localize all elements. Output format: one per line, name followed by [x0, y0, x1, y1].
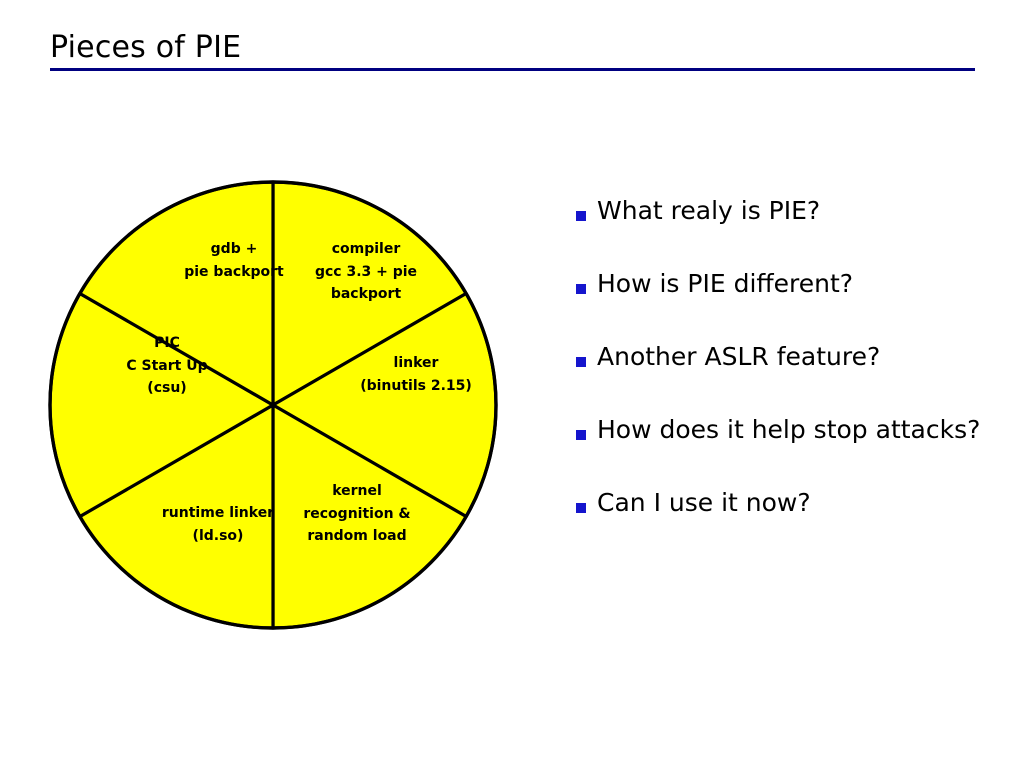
page-title: Pieces of PIE: [50, 30, 241, 65]
square-bullet-icon: [576, 284, 586, 294]
pie-label-line: compiler: [278, 238, 454, 261]
square-bullet-icon: [576, 430, 586, 440]
list-item-label: What realy is PIE?: [597, 198, 820, 223]
pie-label-line: random load: [272, 525, 442, 548]
pie-slice-label-left: PIC C Start Up (csu): [88, 332, 246, 400]
list-item[interactable]: How is PIE different?: [576, 271, 996, 344]
agenda-bullet-list: What realy is PIE? How is PIE different?…: [576, 198, 996, 563]
list-item[interactable]: What realy is PIE?: [576, 198, 996, 271]
pie-label-line: PIC: [88, 332, 246, 355]
square-bullet-icon: [576, 211, 586, 221]
pie-label-line: (csu): [88, 377, 246, 400]
pie-label-line: (binutils 2.15): [336, 375, 496, 398]
pie-label-line: C Start Up: [88, 355, 246, 378]
pie-slice-label-top-right: compiler gcc 3.3 + pie backport: [278, 238, 454, 306]
list-item[interactable]: Another ASLR feature?: [576, 344, 996, 417]
list-item[interactable]: How does it help stop attacks?: [576, 417, 996, 490]
pie-label-line: kernel: [272, 480, 442, 503]
list-item-label: How is PIE different?: [597, 271, 853, 296]
list-item-label: Can I use it now?: [597, 490, 811, 515]
pie-slice-label-right: linker (binutils 2.15): [336, 352, 496, 397]
list-item[interactable]: Can I use it now?: [576, 490, 996, 563]
square-bullet-icon: [576, 357, 586, 367]
list-item-label: How does it help stop attacks?: [597, 417, 980, 442]
title-divider: [50, 68, 975, 71]
pie-chart: gdb + pie backport compiler gcc 3.3 + pi…: [46, 178, 502, 634]
pie-label-line: linker: [336, 352, 496, 375]
list-item-label: Another ASLR feature?: [597, 344, 880, 369]
square-bullet-icon: [576, 503, 586, 513]
pie-label-line: recognition &: [272, 503, 442, 526]
pie-label-line: backport: [278, 283, 454, 306]
pie-slice-label-bottom-right: kernel recognition & random load: [272, 480, 442, 548]
pie-label-line: gcc 3.3 + pie: [278, 261, 454, 284]
